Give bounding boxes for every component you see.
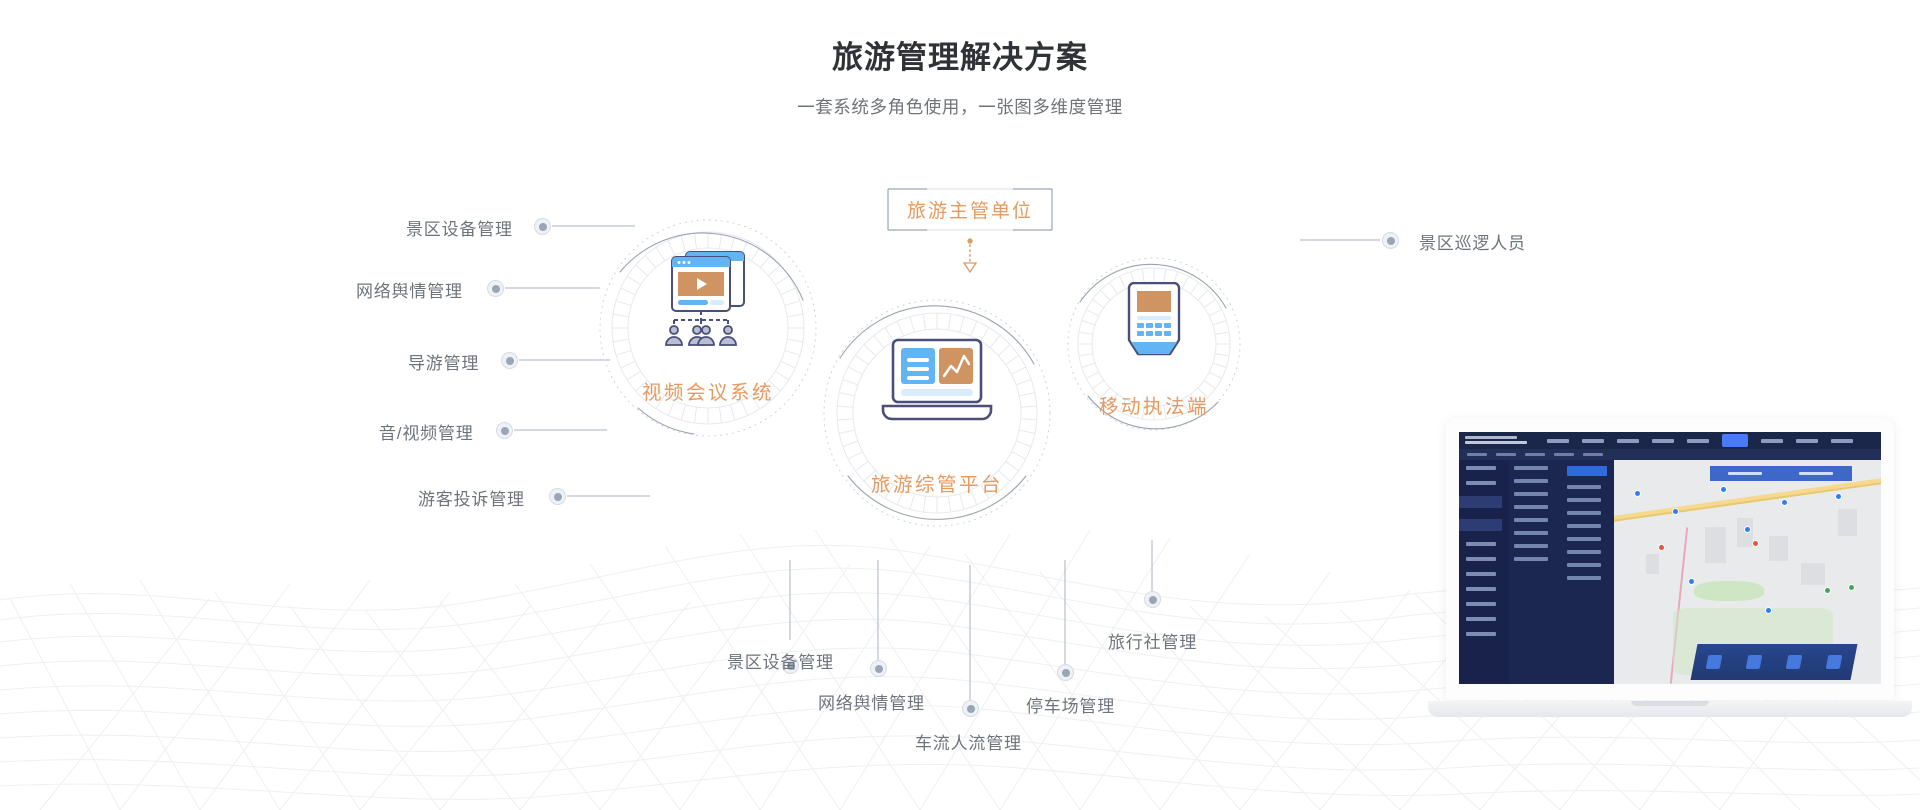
node-label-yin-shipin: 音/视频管理: [379, 419, 474, 444]
ring-label-mobile-enforcement: 移动执法端: [1066, 390, 1242, 419]
map-pin-10: [1766, 608, 1771, 613]
ring-label-tourism-platform: 旅游综管平台: [822, 468, 1052, 497]
map-building-4: [1801, 563, 1825, 585]
handheld-terminal-icon: [1123, 282, 1185, 364]
node-dot-jingqu-shebei-left[interactable]: [534, 218, 551, 235]
map-building-3: [1769, 536, 1788, 561]
map-toolbar: [1710, 466, 1852, 481]
laptop-screen: [1459, 432, 1881, 684]
map-pin-4: [1782, 500, 1787, 505]
map-building-2: [1737, 518, 1753, 547]
handheld-terminal-icon-holder: [1066, 282, 1242, 364]
video-conference-icon-holder: [598, 248, 818, 348]
node-label-tingchechang: 停车场管理: [1026, 692, 1115, 717]
map-pin-7: [1753, 541, 1758, 546]
mock-filter-panel: [1509, 460, 1614, 684]
map-pin-6: [1659, 545, 1664, 550]
mock-nav-items: [1539, 434, 1853, 447]
ring-video-conference[interactable]: 视频会议系统: [598, 218, 818, 438]
mock-brand-logo: [1459, 436, 1539, 446]
map-pin-2: [1673, 509, 1678, 514]
map-building-6: [1838, 509, 1857, 536]
map-pin-1: [1635, 491, 1640, 496]
laptop-lid: [1446, 418, 1894, 700]
node-dot-wangluo-yuqing-bottom[interactable]: [870, 660, 887, 677]
node-label-cheliu-renliu: 车流人流管理: [915, 729, 1022, 754]
map-building-1: [1705, 527, 1726, 563]
node-dot-yin-shipin[interactable]: [496, 422, 513, 439]
laptop-base: [1428, 701, 1912, 717]
node-label-youke-tousu: 游客投诉管理: [418, 485, 525, 510]
node-dot-cheliu-renliu[interactable]: [962, 700, 979, 717]
node-label-jingqu-shebei-left: 景区设备管理: [406, 215, 513, 240]
mock-filter-col-left: [1509, 460, 1562, 684]
node-label-lvxingshe: 旅行社管理: [1108, 628, 1197, 653]
node-dot-jingqu-xunluo[interactable]: [1382, 232, 1399, 249]
map-pin-3: [1721, 487, 1726, 492]
map-pin-8: [1745, 527, 1750, 532]
mock-body: [1459, 460, 1881, 684]
laptop-dashboard-icon-holder: [822, 338, 1052, 426]
node-label-wangluo-yuqing-left: 网络舆情管理: [356, 277, 463, 302]
video-conference-icon: [656, 248, 760, 348]
mock-map-view: [1614, 460, 1881, 684]
ring-mobile-enforcement[interactable]: 移动执法端: [1066, 256, 1242, 432]
ring-label-video-conference: 视频会议系统: [598, 376, 818, 405]
node-label-wangluo-yuqing-bottom: 网络舆情管理: [818, 689, 925, 714]
map-building-5: [1646, 554, 1659, 574]
map-shortcut-tray: [1691, 644, 1858, 680]
tourism-platform-laptop-mockup[interactable]: [1428, 418, 1912, 748]
map-pin-11: [1849, 585, 1854, 590]
node-dot-youke-tousu[interactable]: [549, 488, 566, 505]
node-label-daoyou: 导游管理: [408, 349, 479, 374]
node-dot-wangluo-yuqing-left[interactable]: [487, 280, 504, 297]
node-dot-daoyou[interactable]: [501, 352, 518, 369]
map-pin-12: [1825, 588, 1830, 593]
map-green-area-1: [1694, 581, 1763, 601]
mock-tab-strip: [1459, 449, 1881, 460]
laptop-dashboard-icon: [881, 338, 993, 426]
mock-top-nav: [1459, 432, 1881, 449]
map-pin-5: [1836, 494, 1841, 499]
mock-filter-col-right: [1562, 460, 1615, 684]
node-dot-tingchechang[interactable]: [1057, 664, 1074, 681]
node-label-jingqu-shebei-bottom: 景区设备管理: [727, 648, 834, 673]
infographic-stage: 旅游管理解决方案 一套系统多角色使用，一张图多维度管理 旅游主管单位: [0, 0, 1920, 810]
ring-tourism-platform[interactable]: 旅游综管平台: [822, 298, 1052, 528]
node-label-jingqu-xunluo: 景区巡逻人员: [1419, 229, 1526, 254]
mock-sidebar: [1459, 460, 1509, 684]
node-dot-lvxingshe[interactable]: [1144, 591, 1161, 608]
map-pin-9: [1689, 579, 1694, 584]
